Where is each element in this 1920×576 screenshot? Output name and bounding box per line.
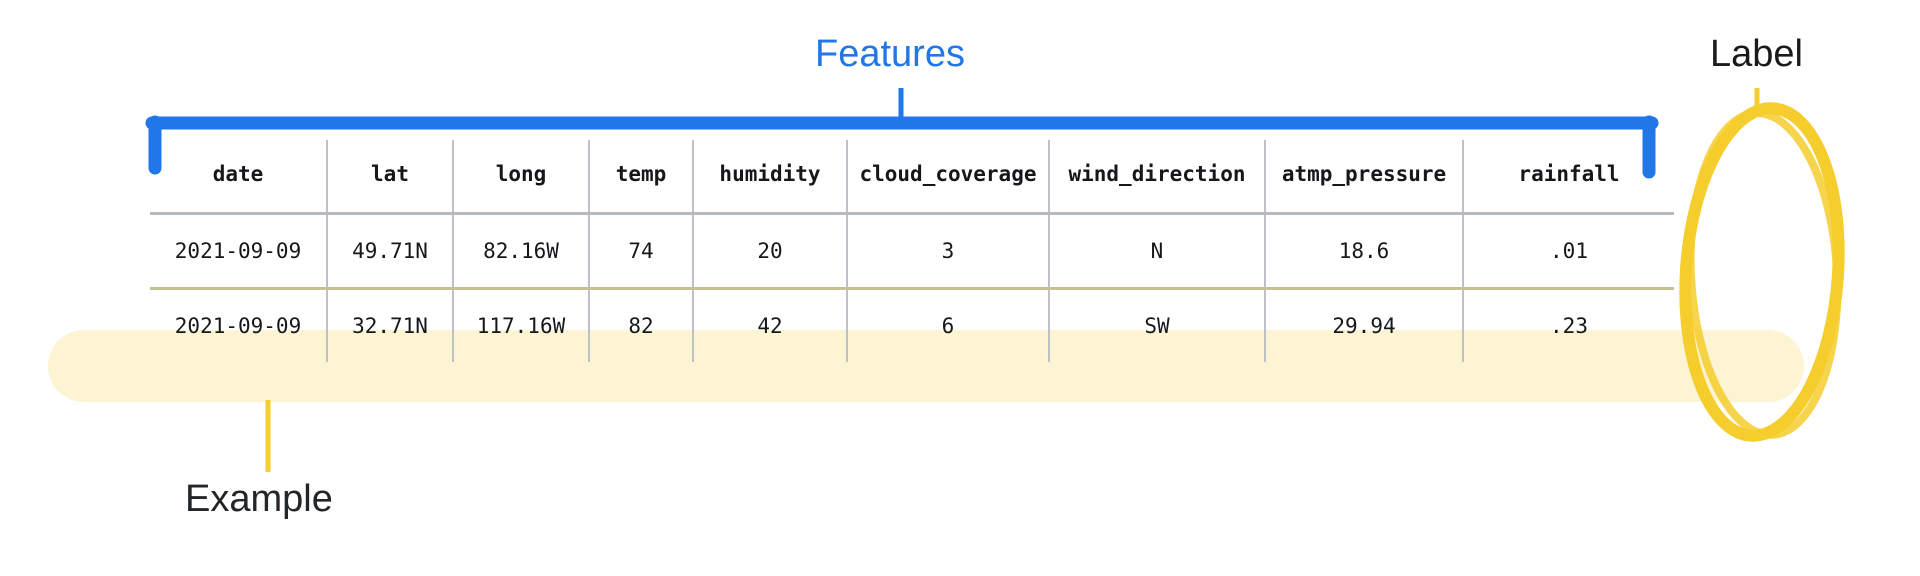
- cell-wind-direction: N: [1049, 214, 1265, 289]
- cell-atmp-pressure: 29.94: [1265, 289, 1463, 363]
- table-row[interactable]: 2021-09-09 32.71N 117.16W 82 42 6 SW 29.…: [150, 289, 1674, 363]
- cell-cloud-coverage: 6: [847, 289, 1049, 363]
- column-header-rainfall[interactable]: rainfall: [1463, 140, 1674, 214]
- dataset-table: date lat long temp humidity cloud_covera…: [150, 140, 1674, 362]
- cell-humidity: 42: [693, 289, 847, 363]
- example-annotation-label: Example: [185, 478, 333, 521]
- cell-lat: 49.71N: [327, 214, 453, 289]
- cell-temp: 82: [589, 289, 693, 363]
- column-header-humidity[interactable]: humidity: [693, 140, 847, 214]
- dataset-table-container: date lat long temp humidity cloud_covera…: [150, 140, 1658, 362]
- cell-date: 2021-09-09: [150, 214, 327, 289]
- cell-wind-direction: SW: [1049, 289, 1265, 363]
- cell-long: 82.16W: [453, 214, 589, 289]
- table-header-row: date lat long temp humidity cloud_covera…: [150, 140, 1674, 214]
- column-header-temp[interactable]: temp: [589, 140, 693, 214]
- cell-rainfall: .01: [1463, 214, 1674, 289]
- column-header-long[interactable]: long: [453, 140, 589, 214]
- label-annotation-label: Label: [1710, 33, 1803, 76]
- cell-atmp-pressure: 18.6: [1265, 214, 1463, 289]
- features-annotation-label: Features: [815, 33, 965, 76]
- cell-temp: 74: [589, 214, 693, 289]
- column-header-cloud-coverage[interactable]: cloud_coverage: [847, 140, 1049, 214]
- column-header-lat[interactable]: lat: [327, 140, 453, 214]
- cell-long: 117.16W: [453, 289, 589, 363]
- cell-rainfall: .23: [1463, 289, 1674, 363]
- cell-lat: 32.71N: [327, 289, 453, 363]
- column-header-atmp-pressure[interactable]: atmp_pressure: [1265, 140, 1463, 214]
- cell-cloud-coverage: 3: [847, 214, 1049, 289]
- diagram-canvas: date lat long temp humidity cloud_covera…: [0, 0, 1920, 576]
- column-header-wind-direction[interactable]: wind_direction: [1049, 140, 1265, 214]
- cell-humidity: 20: [693, 214, 847, 289]
- column-header-date[interactable]: date: [150, 140, 327, 214]
- table-row[interactable]: 2021-09-09 49.71N 82.16W 74 20 3 N 18.6 …: [150, 214, 1674, 289]
- cell-date: 2021-09-09: [150, 289, 327, 363]
